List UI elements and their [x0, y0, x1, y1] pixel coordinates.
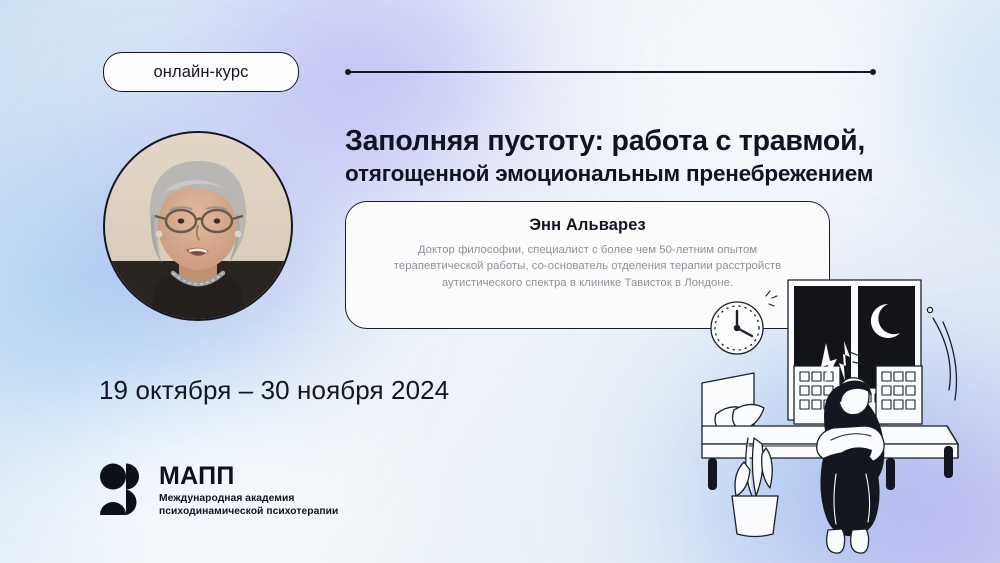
logo-subtitle-line-1: Международная академия — [159, 492, 338, 505]
divider-rule — [345, 69, 876, 75]
bedroom-illustration — [690, 278, 1000, 563]
course-dates: 19 октября – 30 ноября 2024 — [99, 375, 449, 406]
logo-title: МАПП — [159, 463, 338, 489]
course-announcement-poster: онлайн-курс Заполняя пустоту: работа с т… — [0, 0, 1000, 563]
page-title-line-2: отягощенной эмоциональным пренебрежением — [345, 159, 945, 189]
organization-logo: МАПП Международная академия психодинамич… — [100, 462, 338, 518]
logo-subtitle: Международная академия психодинамической… — [159, 492, 338, 518]
speaker-avatar — [103, 131, 293, 321]
logo-text-block: МАПП Международная академия психодинамич… — [159, 462, 338, 518]
page-title-line-1: Заполняя пустоту: работа с травмой, — [345, 123, 945, 159]
page-title: Заполняя пустоту: работа с травмой, отяг… — [345, 123, 945, 189]
speaker-photo — [105, 133, 291, 319]
illustration-svg — [690, 278, 1000, 563]
city-buildings-right — [876, 366, 922, 424]
mapp-logo-mark-icon — [100, 462, 146, 515]
speaker-name: Энн Альварез — [376, 216, 799, 235]
logo-subtitle-line-2: психодинамической психотерапии — [159, 505, 338, 518]
divider-dot-right — [870, 69, 876, 75]
course-type-badge-label: онлайн-курс — [154, 63, 249, 82]
course-type-badge: онлайн-курс — [103, 52, 299, 92]
motion-arcs-icon — [927, 307, 956, 400]
wall-clock-icon — [711, 291, 777, 354]
divider-line — [348, 71, 873, 73]
